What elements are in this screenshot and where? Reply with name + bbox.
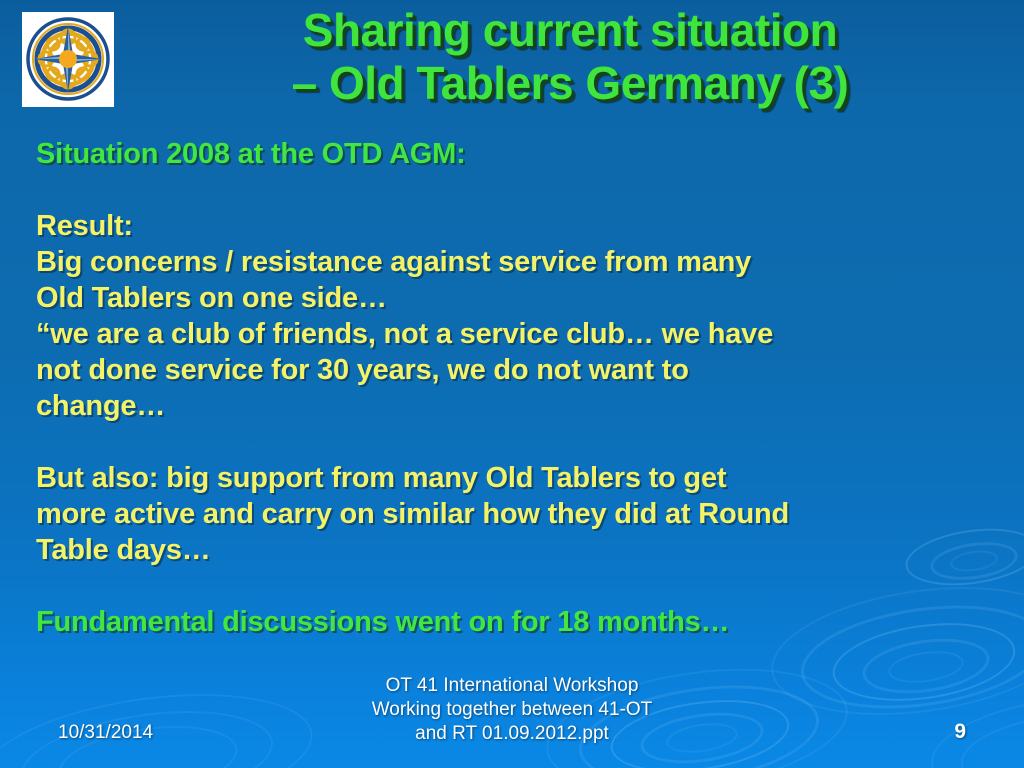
body-line: But also: big support from many Old Tabl… [36, 460, 1011, 496]
old-tablers-logo [22, 12, 114, 107]
slide-body: Situation 2008 at the OTD AGM: Result: B… [36, 136, 1011, 640]
body-line: more active and carry on similar how the… [36, 496, 1011, 532]
body-line-spacer [36, 568, 1011, 604]
body-line: Situation 2008 at the OTD AGM: [36, 136, 1011, 172]
slide-title: Sharing current situation – Old Tablers … [130, 4, 1010, 111]
title-line-2: – Old Tablers Germany (3) [130, 57, 1010, 110]
body-line: Big concerns / resistance against servic… [36, 244, 1011, 280]
body-line: Fundamental discussions went on for 18 m… [36, 604, 1011, 640]
title-line-1: Sharing current situation [303, 4, 837, 56]
round-table-emblem-icon [22, 12, 114, 107]
slide-page-number: 9 [0, 720, 966, 744]
body-line-spacer [36, 424, 1011, 460]
presentation-slide: Sharing current situation – Old Tablers … [0, 0, 1024, 768]
footer-title-line-2: Working together between 41-OT [0, 698, 1024, 722]
body-line: “we are a club of friends, not a service… [36, 316, 1011, 352]
body-line: Old Tablers on one side… [36, 280, 1011, 316]
body-line-spacer [36, 172, 1011, 208]
body-line: change… [36, 388, 1011, 424]
body-line: not done service for 30 years, we do not… [36, 352, 1011, 388]
footer-title-line-1: OT 41 International Workshop [0, 674, 1024, 698]
body-line: Table days… [36, 532, 1011, 568]
body-line: Result: [36, 208, 1011, 244]
